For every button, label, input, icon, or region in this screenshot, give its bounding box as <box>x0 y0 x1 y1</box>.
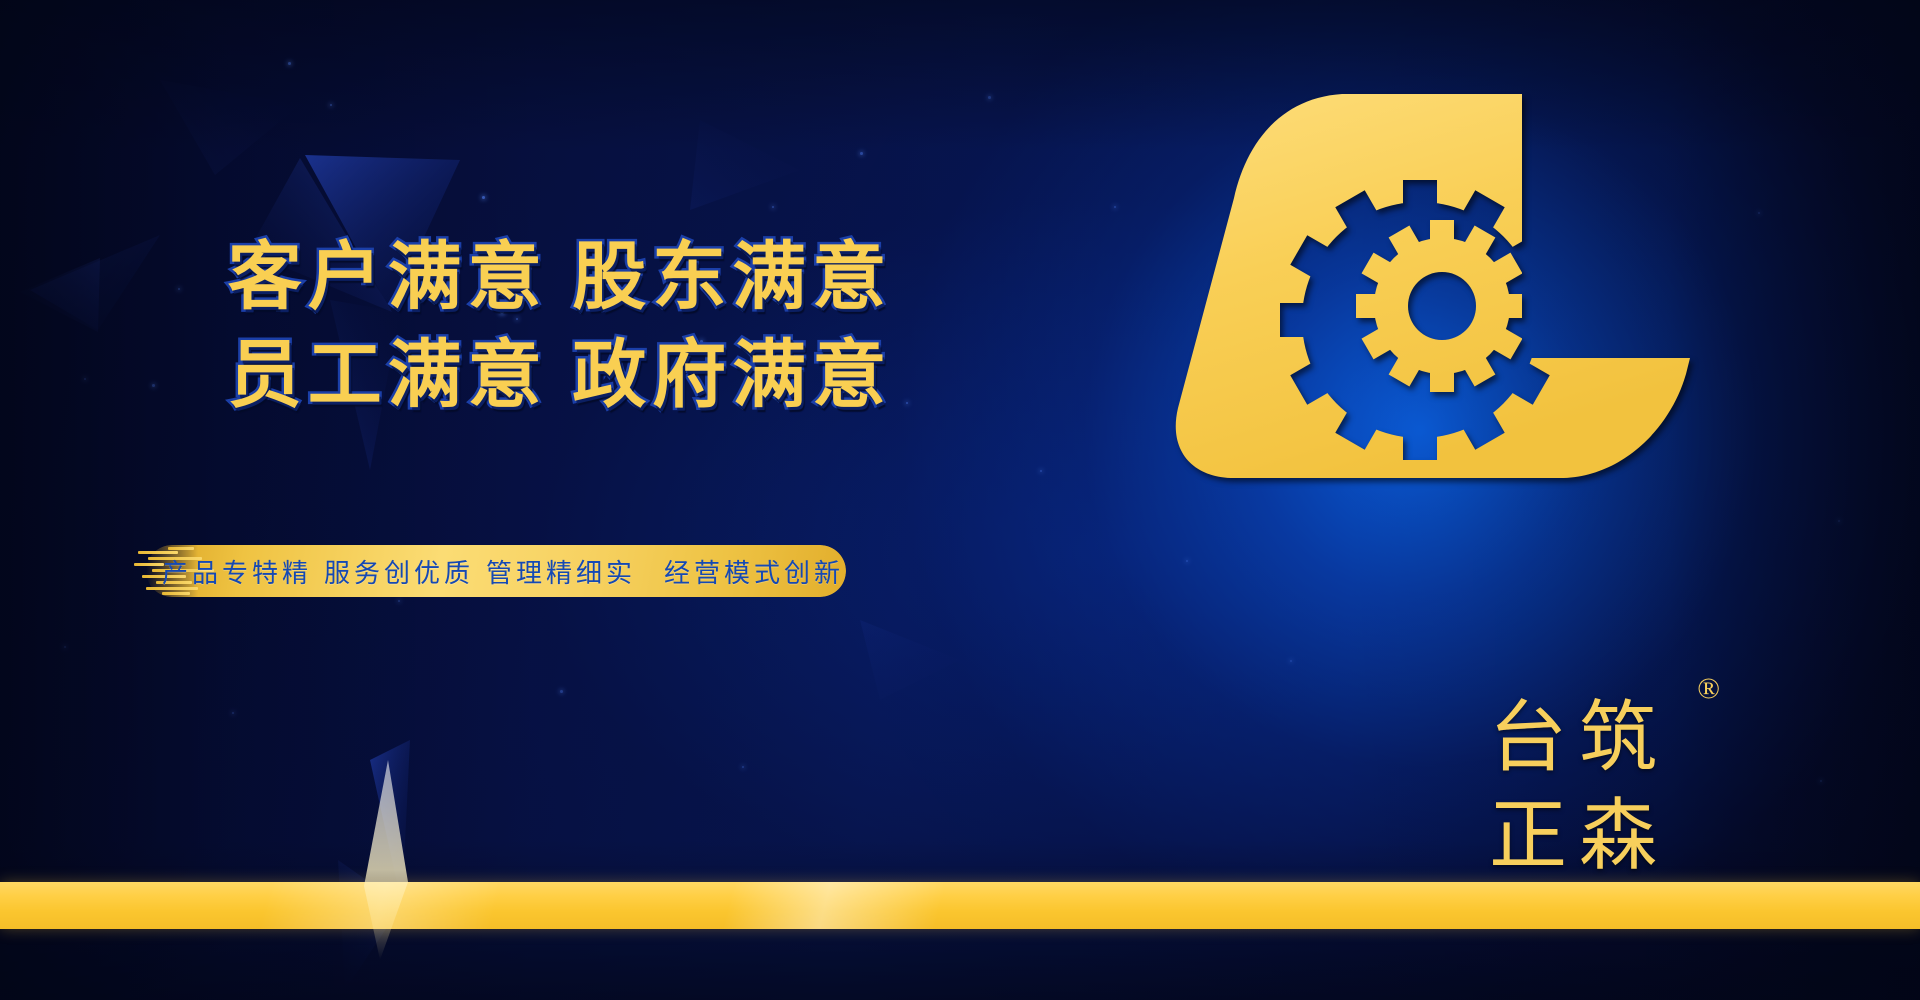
headline-line-1: 客户满意 股东满意 <box>150 236 970 320</box>
wordmark-char-2: 筑 <box>1576 690 1660 786</box>
banner-stage: 客户满意 股东满意 员工满意 政府满意 产品专特精 服务创优质 管理精细实 经营… <box>0 0 1920 1000</box>
slogan-pill-banner: 产品专特精 服务创优质 管理精细实 经营模式创新 <box>146 545 846 597</box>
slogan-segment-4: 经营模式创新 <box>658 553 850 590</box>
slogan-segment-3: 管理精细实 <box>480 553 642 590</box>
wordmark-char-4: 森 <box>1576 788 1660 884</box>
slogan-segment-1: 产品专特精 <box>156 553 318 590</box>
headline-line-2: 员工满意 政府满意 <box>150 334 970 418</box>
registered-trademark-icon: ® <box>1697 674 1720 704</box>
slogan-pill-text: 产品专特精 服务创优质 管理精细实 经营模式创新 <box>146 545 846 597</box>
company-logo-mark <box>1130 78 1710 498</box>
wordmark-char-3: 正 <box>1486 788 1570 884</box>
slogan-segment-2: 服务创优质 <box>318 553 480 590</box>
wordmark-char-1: 台 <box>1486 690 1570 786</box>
gold-footer-bar <box>0 882 1920 929</box>
headline-block: 客户满意 股东满意 员工满意 政府满意 <box>150 236 970 419</box>
company-wordmark: 台 筑 正 森 ® <box>1486 690 1686 890</box>
gold-bar-sheen <box>0 882 1920 929</box>
logo-swoosh-shape <box>1176 94 1690 478</box>
